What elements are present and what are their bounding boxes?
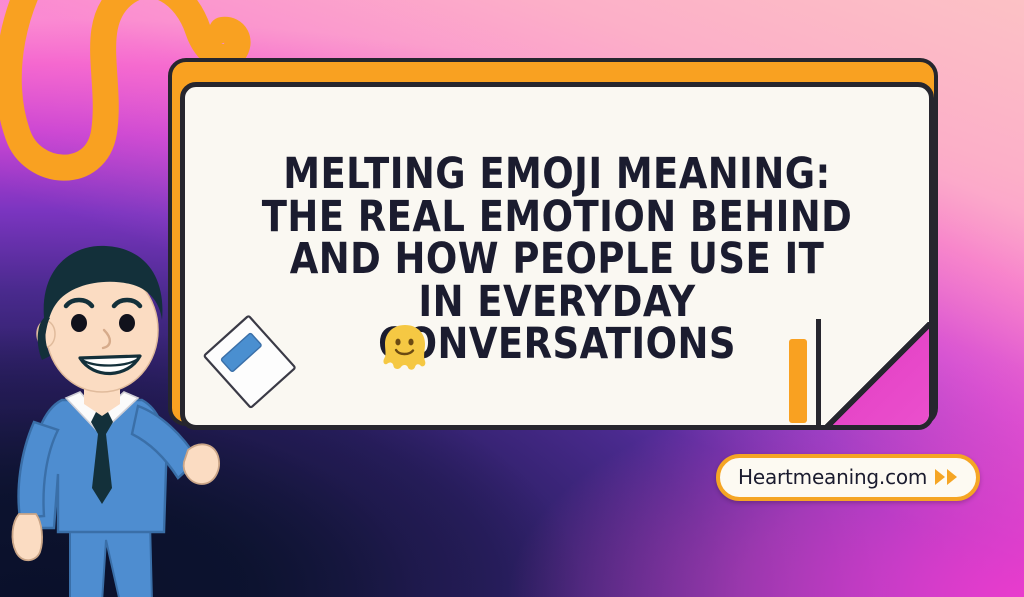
site-badge[interactable]: Heartmeaning.com: [716, 454, 980, 501]
site-badge-label: Heartmeaning.com: [738, 465, 927, 489]
folded-corner: [820, 322, 932, 428]
melting-face-emoji: [381, 323, 429, 375]
double-chevron-right-icon: [934, 467, 960, 487]
page-title: MELTING EMOJI MEANING: THE REAL EMOTION …: [237, 153, 877, 366]
poster-canvas: MELTING EMOJI MEANING: THE REAL EMOTION …: [0, 0, 1024, 597]
businessman-presenter: [0, 222, 292, 597]
folded-corner-edge: [816, 319, 821, 425]
fold-orange-accent: [789, 339, 807, 423]
